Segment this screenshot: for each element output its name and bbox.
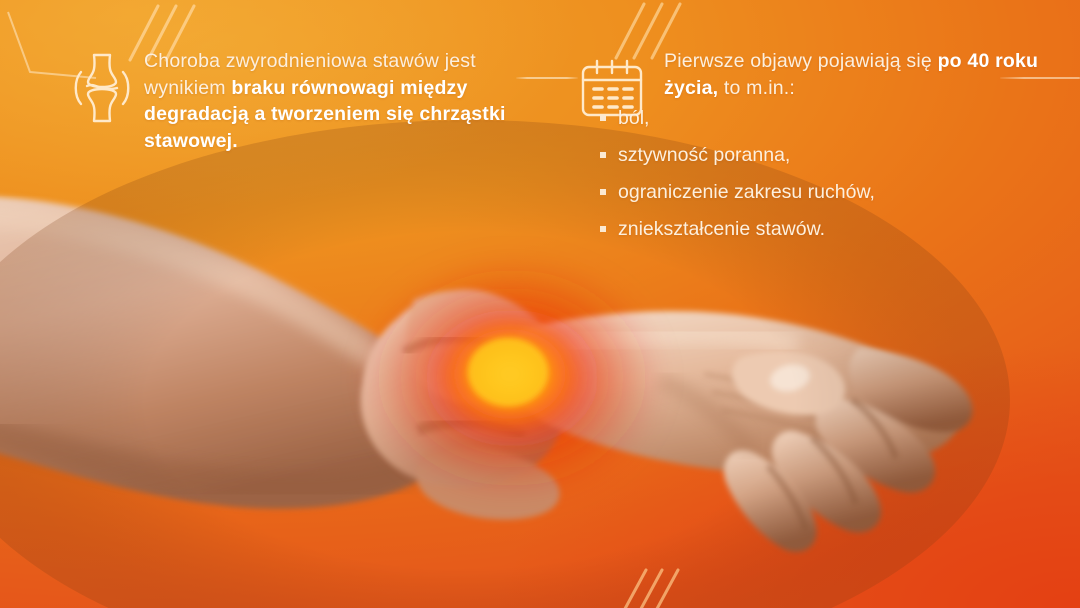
left-line-2-bold: braku równowagi: [231, 77, 394, 99]
symptom-item: zniekształcenie stawów.: [600, 216, 1048, 242]
symptom-item: ból,: [600, 105, 1048, 131]
infographic-poster: Choroba zwyrodnieniowa stawów jest wynik…: [0, 0, 1080, 608]
right-line-2-regular: to m.in.:: [718, 77, 795, 99]
left-content-block: Choroba zwyrodnieniowa stawów jest wynik…: [72, 48, 542, 154]
right-content-block: Pierwsze objawy pojawiają się po 40 roku…: [578, 48, 1048, 253]
right-line-1: Pierwsze objawy pojawiają się: [664, 50, 932, 72]
left-line-1: Choroba zwyrodnieniowa stawów: [144, 50, 439, 72]
bone-joint-icon: [72, 52, 132, 124]
left-copy: Choroba zwyrodnieniowa stawów jest wynik…: [144, 48, 542, 154]
symptom-list: ból,sztywność poranna,ograniczenie zakre…: [578, 105, 1048, 242]
right-copy: Pierwsze objawy pojawiają się po 40 roku…: [664, 48, 1048, 101]
symptom-item: sztywność poranna,: [600, 142, 1048, 168]
symptom-item: ograniczenie zakresu ruchów,: [600, 179, 1048, 205]
